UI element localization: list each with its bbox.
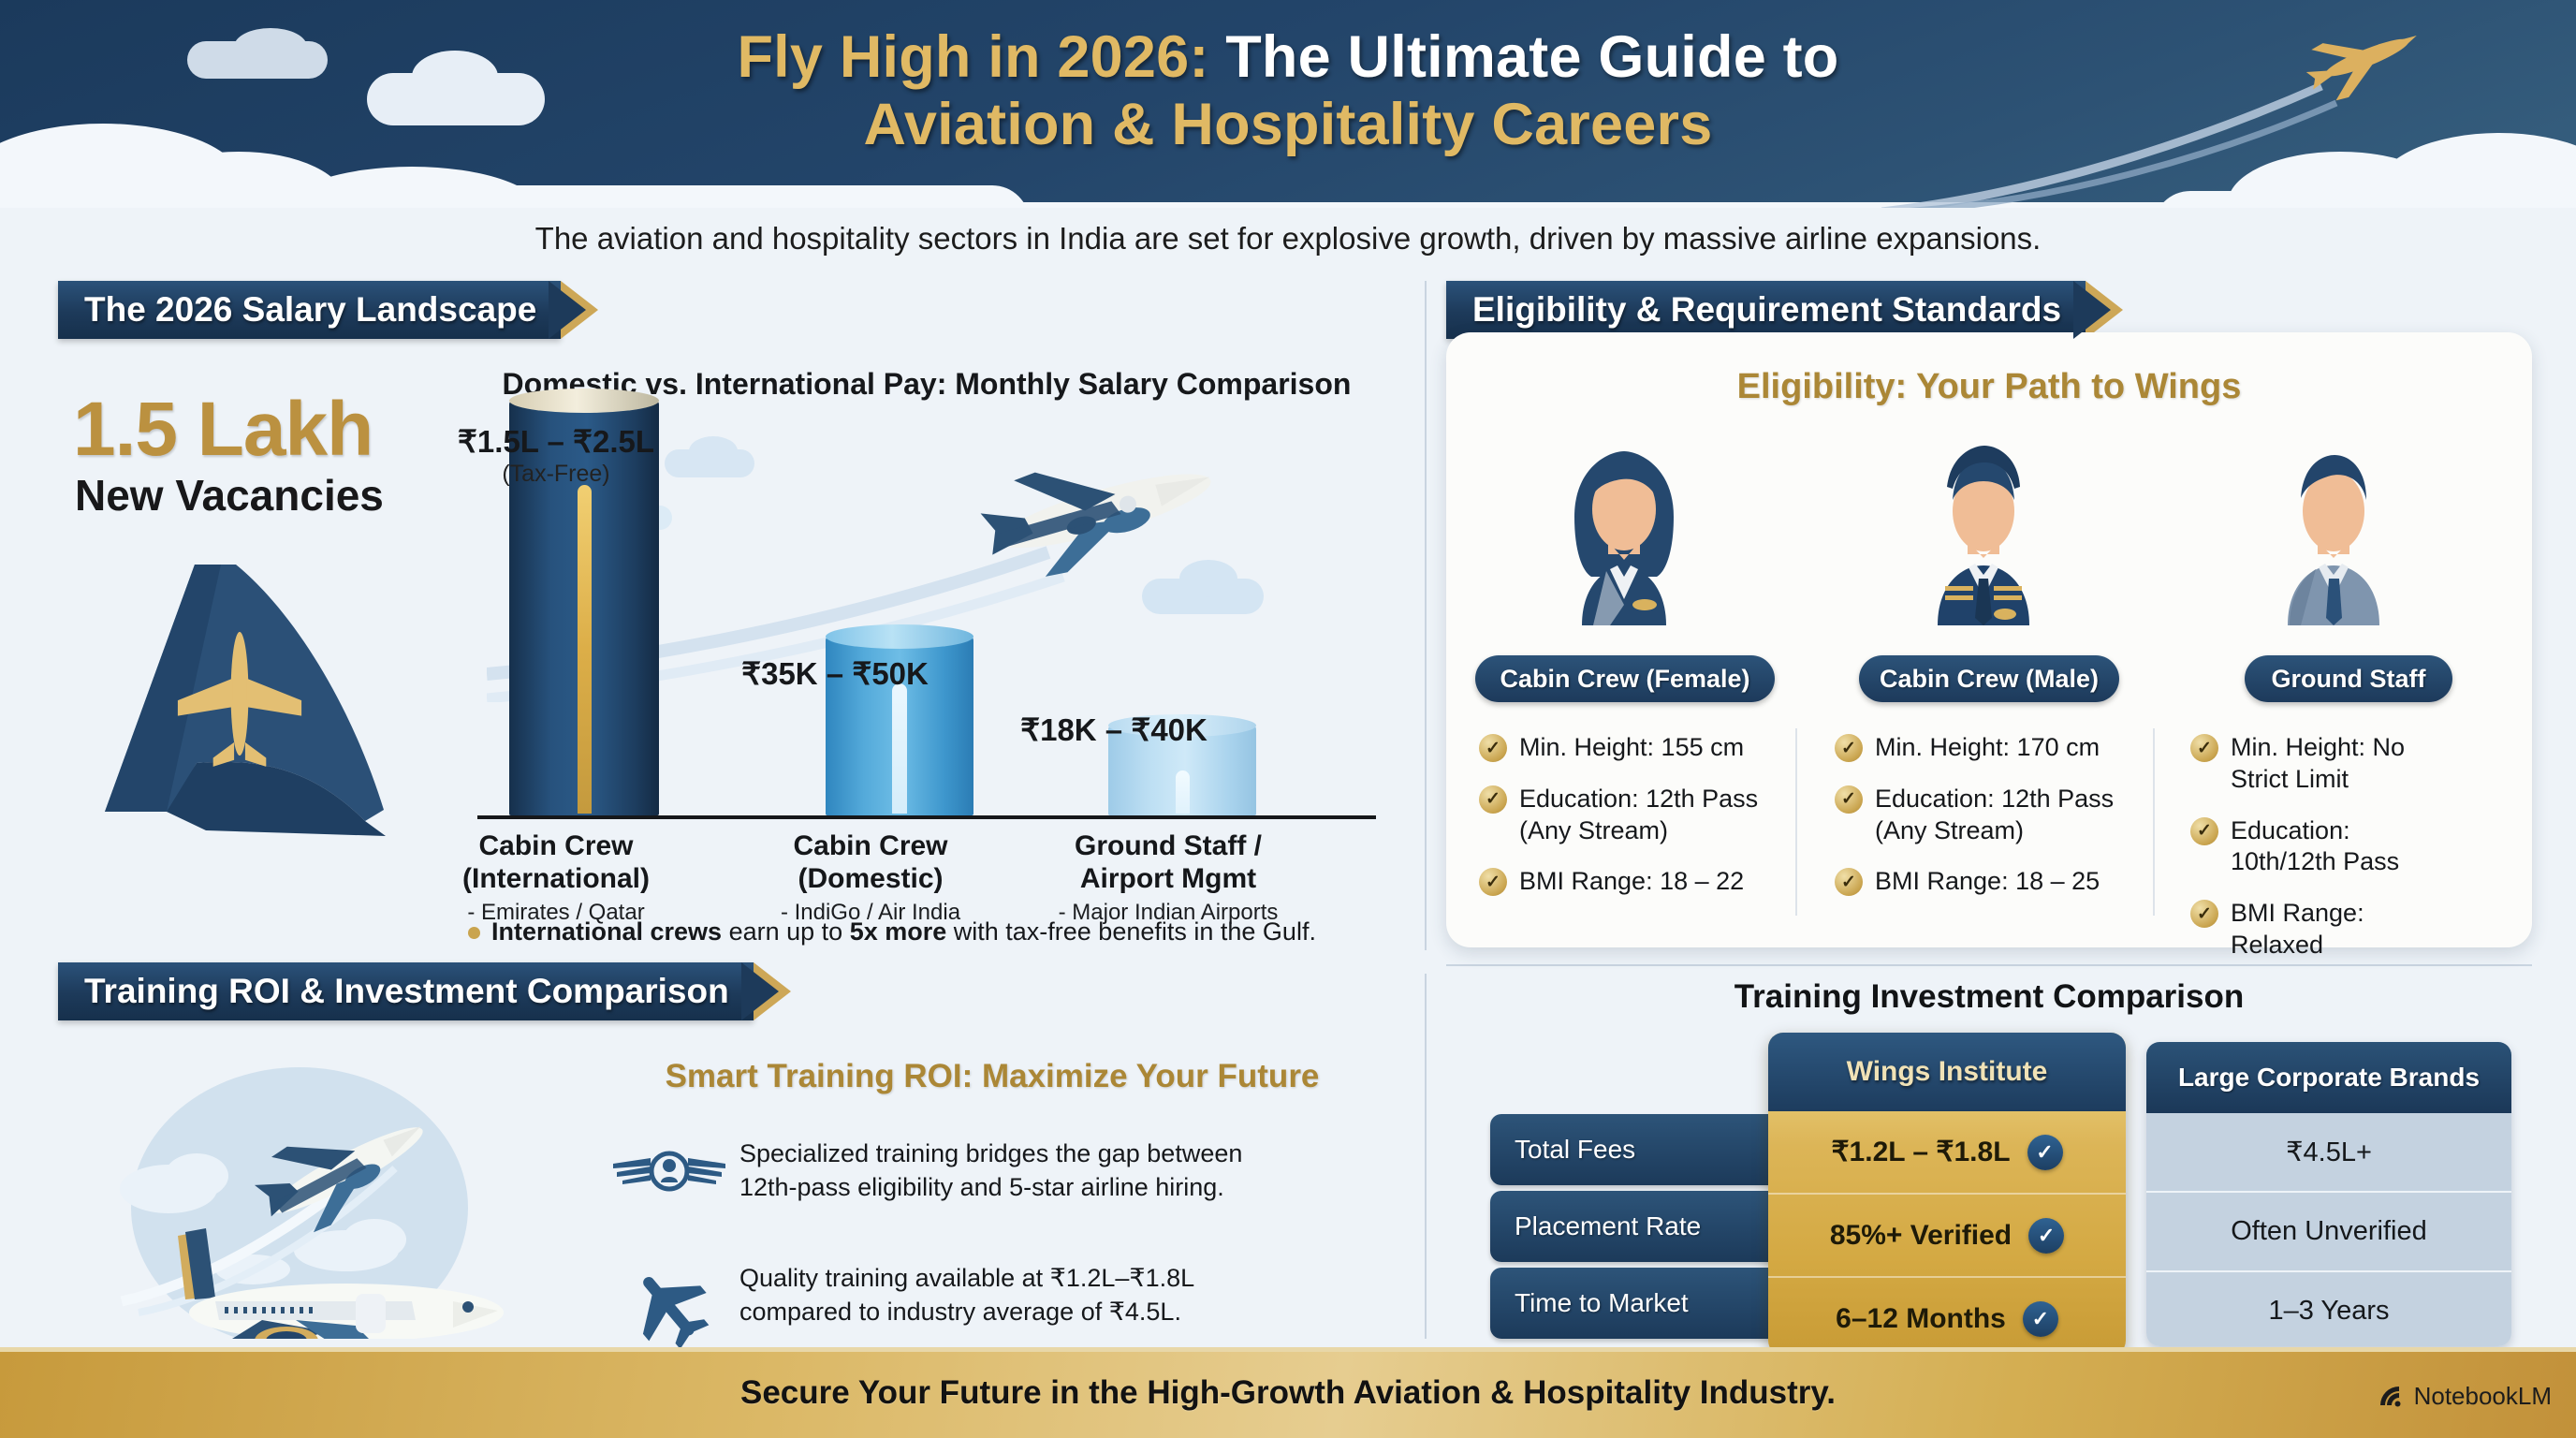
banner-title-line1-gold: Fly High in 2026: [738, 24, 1209, 90]
wings-cell-time-to-market: 6–12 Months ✓ [1768, 1278, 2126, 1356]
ribbon-training-label: Training ROI & Investment Comparison [84, 972, 729, 1011]
requirement-text: BMI Range: Relaxed [2231, 898, 2432, 961]
airplane-icon-wrap [599, 1262, 739, 1352]
requirement-text: Education: 12th Pass (Any Stream) [1875, 784, 2134, 847]
requirement-item: ✓ BMI Range: 18 – 22 [1479, 866, 1778, 898]
footnote-end: with tax-free benefits in the Gulf. [946, 917, 1316, 946]
roi-point-text-2: Quality training available at ₹1.2L–₹1.8… [739, 1262, 1301, 1329]
wings-value-placement-rate: 85%+ Verified [1830, 1220, 2012, 1252]
check-icon: ✓ [1835, 868, 1863, 896]
requirement-text: Min. Height: 170 cm [1875, 732, 2100, 764]
footnote-bold-2: 5x more [850, 917, 947, 946]
eligibility-heading: Eligibility: Your Path to Wings [1446, 367, 2532, 407]
salary-footnote: International crews earn up to 5x more w… [468, 917, 1404, 946]
requirement-text: Education: 12th Pass (Any Stream) [1519, 784, 1778, 847]
category-name-line2: Airport Mgmt [1028, 862, 1309, 895]
chart-cloud-1b [689, 436, 738, 466]
eligibility-col-divider-2 [2153, 728, 2155, 916]
chart-airplane-icon [936, 429, 1245, 597]
profile-badge-label: Cabin Crew (Female) [1500, 665, 1749, 694]
banner-title-line2: Aviation & Hospitality Careers [0, 92, 2576, 159]
chart-baseline-axis [477, 815, 1376, 819]
footnote-bullet-icon [468, 927, 480, 939]
wings-value-total-fees: ₹1.2L – ₹1.8L [1831, 1136, 2010, 1168]
check-icon: ✓ [2028, 1218, 2064, 1254]
corporate-cell-placement-rate: Often Unverified [2146, 1193, 2511, 1272]
check-icon: ✓ [1835, 734, 1863, 762]
profile-badge-female-cabin-crew: Cabin Crew (Female) [1475, 655, 1775, 702]
requirement-item: ✓ Min. Height: 170 cm [1835, 732, 2134, 764]
check-icon: ✓ [1479, 734, 1507, 762]
roi-point-text-1: Specialized training bridges the gap bet… [739, 1137, 1301, 1205]
female-cabin-crew-avatar [1516, 431, 1732, 627]
divider-top-vertical [1425, 281, 1427, 950]
category-label-international: Cabin Crew (International) - Emirates / … [425, 829, 687, 926]
wings-cell-total-fees: ₹1.2L – ₹1.8L ✓ [1768, 1111, 2126, 1195]
category-name-line1: Cabin Crew [425, 829, 687, 862]
category-name-line1: Cabin Crew [739, 829, 1002, 862]
footer-bar: Secure Your Future in the High-Growth Av… [0, 1347, 2576, 1438]
check-glyph: ✓ [2038, 1224, 2055, 1248]
row-label-text: Placement Rate [1515, 1211, 1701, 1241]
requirement-item: ✓ Min. Height: 155 cm [1479, 732, 1778, 764]
profile-badge-male-cabin-crew: Cabin Crew (Male) [1859, 655, 2119, 702]
ribbon-salary-landscape: The 2026 Salary Landscape [58, 281, 561, 339]
infographic-canvas: Fly High in 2026: The Ultimate Guide to … [0, 0, 2576, 1438]
divider-bottom-vertical [1425, 974, 1427, 1339]
wings-institute-column: Wings Institute ₹1.2L – ₹1.8L ✓ 85%+ Ver… [1768, 1033, 2126, 1356]
check-icon: ✓ [1479, 868, 1507, 896]
wings-cell-placement-rate: 85%+ Verified ✓ [1768, 1195, 2126, 1278]
check-glyph: ✓ [2032, 1307, 2049, 1331]
check-icon: ✓ [2190, 817, 2218, 845]
requirement-item: ✓ Education: 12th Pass (Any Stream) [1835, 784, 2134, 847]
banner-title: Fly High in 2026: The Ultimate Guide to … [0, 24, 2576, 159]
profile-badge-ground-staff: Ground Staff [2245, 655, 2452, 702]
requirement-item: ✓ Min. Height: No Strict Limit [2190, 732, 2462, 796]
check-icon: ✓ [2190, 900, 2218, 928]
wings-institute-header: Wings Institute [1768, 1033, 2126, 1111]
requirement-text: Education: 10th/12th Pass [2231, 815, 2432, 879]
row-label-text: Time to Market [1515, 1288, 1689, 1318]
wings-value-time-to-market: 6–12 Months [1836, 1303, 2006, 1335]
check-icon: ✓ [2190, 734, 2218, 762]
profile-badge-label: Ground Staff [2272, 665, 2426, 694]
wings-badge-icon-wrap [599, 1137, 739, 1205]
roi-point-2: Quality training available at ₹1.2L–₹1.8… [599, 1262, 1301, 1352]
requirement-text: BMI Range: 18 – 25 [1875, 866, 2100, 898]
requirement-text: Min. Height: 155 cm [1519, 732, 1744, 764]
requirement-text: Min. Height: No Strict Limit [2231, 732, 2432, 796]
bar-shine-3 [1176, 770, 1190, 814]
corporate-brands-header: Large Corporate Brands [2146, 1042, 2511, 1113]
ribbon-eligibility-label: Eligibility & Requirement Standards [1472, 290, 2061, 330]
notebooklm-brand-text: NotebookLM [2414, 1382, 2552, 1411]
male-cabin-crew-avatar [1876, 431, 2091, 627]
bar-value-label-3: ₹18K – ₹40K [983, 712, 1245, 748]
footnote-bold-1: International crews [491, 917, 722, 946]
profile-badge-label: Cabin Crew (Male) [1880, 665, 2099, 694]
check-icon: ✓ [1835, 785, 1863, 814]
category-label-ground-staff: Ground Staff / Airport Mgmt - Major Indi… [1028, 829, 1309, 926]
airplane-icon [624, 1262, 714, 1352]
ribbon-salary-label: The 2026 Salary Landscape [84, 290, 536, 330]
bar-value-sublabel-1: (Tax-Free) [434, 461, 678, 488]
category-name-line2: (Domestic) [739, 862, 1002, 895]
footer-text: Secure Your Future in the High-Growth Av… [0, 1374, 2576, 1412]
wings-badge-icon [609, 1137, 729, 1205]
roi-heading: Smart Training ROI: Maximize Your Future [599, 1058, 1385, 1095]
footnote-mid: earn up to [722, 917, 850, 946]
check-glyph: ✓ [2036, 1140, 2053, 1165]
bar-shine-1 [578, 485, 592, 814]
requirement-item: ✓ BMI Range: 18 – 25 [1835, 866, 2134, 898]
bar-cap-2 [826, 624, 973, 649]
bar-value-label-2: ₹35K – ₹50K [704, 655, 966, 692]
corporate-cell-time-to-market: 1–3 Years [2146, 1272, 2511, 1346]
category-label-domestic: Cabin Crew (Domestic) - IndiGo / Air Ind… [739, 829, 1002, 926]
vacancies-stat-number: 1.5 Lakh [73, 386, 373, 474]
category-name-line1: Ground Staff / [1028, 829, 1309, 862]
ground-staff-avatar [2226, 431, 2441, 627]
corporate-brands-column: Large Corporate Brands ₹4.5L+ Often Unve… [2146, 1042, 2511, 1346]
check-icon: ✓ [1479, 785, 1507, 814]
requirements-column-male: ✓ Min. Height: 170 cm ✓ Education: 12th … [1835, 732, 2134, 917]
corporate-brands-header-text: Large Corporate Brands [2178, 1063, 2480, 1093]
requirement-text: BMI Range: 18 – 22 [1519, 866, 1744, 898]
row-label-text: Total Fees [1515, 1135, 1635, 1165]
bar-value-label-1: ₹1.5L – ₹2.5L [434, 423, 678, 460]
eligibility-col-divider-1 [1795, 728, 1797, 916]
roi-point-1: Specialized training bridges the gap bet… [599, 1137, 1301, 1205]
category-name-line2: (International) [425, 862, 687, 895]
airplane-tail-icon [56, 529, 449, 838]
notebooklm-brand: NotebookLM [2377, 1382, 2552, 1411]
check-icon: ✓ [2023, 1301, 2058, 1337]
requirements-column-female: ✓ Min. Height: 155 cm ✓ Education: 12th … [1479, 732, 1778, 917]
subtitle: The aviation and hospitality sectors in … [0, 221, 2576, 257]
corporate-cell-total-fees: ₹4.5L+ [2146, 1113, 2511, 1193]
airplanes-illustration [66, 1067, 590, 1339]
requirement-item: ✓ BMI Range: Relaxed [2190, 898, 2462, 961]
ribbon-training-roi: Training ROI & Investment Comparison [58, 962, 754, 1020]
bar-cap-1 [509, 389, 659, 413]
banner-title-line1-white: The Ultimate Guide to [1225, 24, 1838, 90]
requirement-item: ✓ Education: 12th Pass (Any Stream) [1479, 784, 1778, 847]
vacancies-stat-label: New Vacancies [75, 470, 384, 521]
bar-shine-2 [892, 683, 907, 814]
requirement-item: ✓ Education: 10th/12th Pass [2190, 815, 2462, 879]
check-icon: ✓ [2027, 1135, 2063, 1170]
requirements-column-ground: ✓ Min. Height: No Strict Limit ✓ Educati… [2190, 732, 2462, 981]
header-banner: Fly High in 2026: The Ultimate Guide to … [0, 0, 2576, 208]
comparison-table-title: Training Investment Comparison [1446, 978, 2532, 1016]
ribbon-eligibility: Eligibility & Requirement Standards [1446, 281, 2086, 339]
wings-institute-header-text: Wings Institute [1847, 1056, 2048, 1088]
notebooklm-logo-icon [2377, 1383, 2405, 1411]
